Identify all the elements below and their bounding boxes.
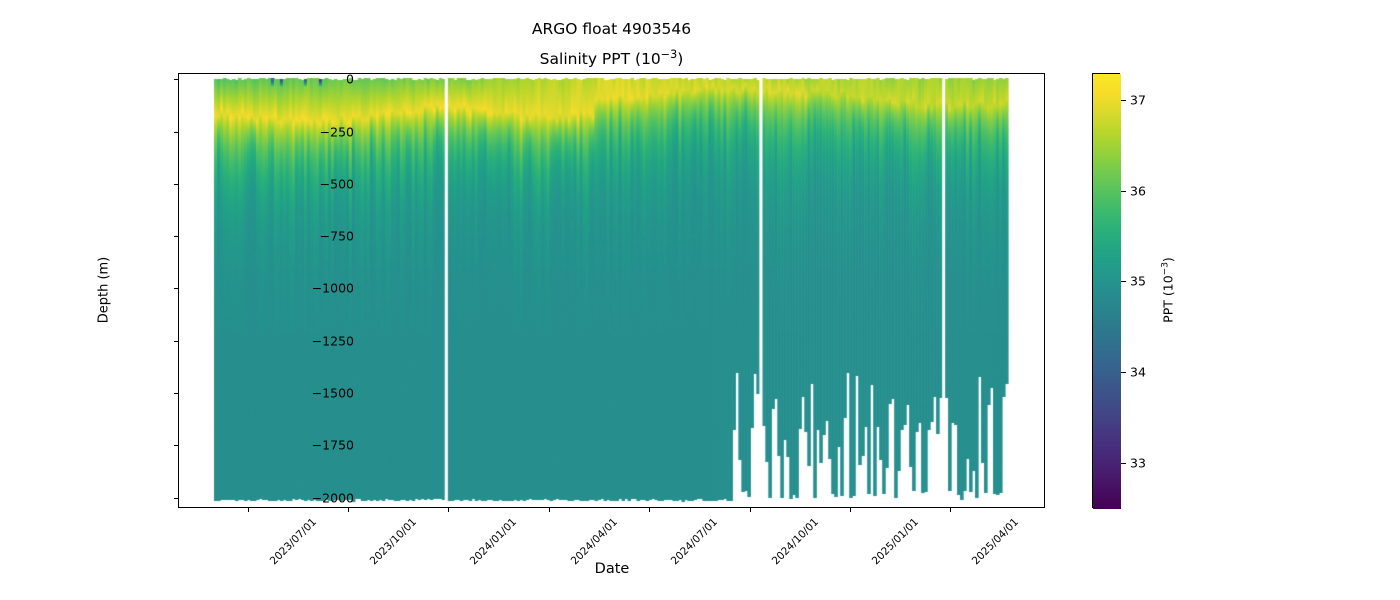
- figure-title: ARGO float 4903546 Salinity PPT (10−3): [178, 16, 1045, 72]
- colorbar-tick-label: 36: [1130, 183, 1146, 198]
- y-tick-label: −500: [320, 176, 354, 191]
- y-tick-mark: [174, 445, 178, 446]
- x-tick-label: 2024/04/01: [569, 516, 620, 567]
- colorbar-tick-mark: [1121, 372, 1126, 373]
- title-line-2-prefix: Salinity PPT (10: [540, 50, 661, 68]
- heatmap-clip: [179, 74, 1044, 507]
- y-tick-label: −1250: [312, 333, 354, 348]
- x-tick-label: 2024/10/01: [769, 516, 820, 567]
- x-tick-label: 2023/10/01: [368, 516, 419, 567]
- y-tick-mark: [174, 498, 178, 499]
- y-tick-label: −1000: [312, 281, 354, 296]
- y-axis-label: Depth (m): [97, 230, 112, 350]
- x-tick-mark: [649, 508, 650, 512]
- x-tick-label: 2025/01/01: [870, 516, 921, 567]
- x-tick-label: 2025/04/01: [970, 516, 1021, 567]
- x-tick-mark: [850, 508, 851, 512]
- colorbar[interactable]: [1092, 73, 1120, 508]
- figure-canvas: ARGO float 4903546 Salinity PPT (10−3) 0…: [0, 0, 1400, 600]
- colorbar-label-suffix: ): [1161, 257, 1176, 262]
- y-tick-mark: [174, 79, 178, 80]
- y-tick-mark: [174, 132, 178, 133]
- title-line-2: Salinity PPT (10−3): [178, 42, 1045, 72]
- colorbar-tick-mark: [1121, 281, 1126, 282]
- colorbar-gradient: [1093, 74, 1121, 509]
- x-tick-label: 2024/07/01: [669, 516, 720, 567]
- colorbar-tick-label: 33: [1130, 455, 1146, 470]
- heatmap-plot-area[interactable]: [178, 73, 1045, 508]
- x-tick-mark: [448, 508, 449, 512]
- y-tick-mark: [174, 393, 178, 394]
- y-tick-label: −1750: [312, 438, 354, 453]
- y-tick-label: −2000: [312, 490, 354, 505]
- colorbar-tick-mark: [1121, 463, 1126, 464]
- y-tick-mark: [174, 184, 178, 185]
- colorbar-tick-label: 34: [1130, 365, 1146, 380]
- x-tick-mark: [348, 508, 349, 512]
- title-line-2-suffix: ): [677, 50, 683, 68]
- colorbar-tick-label: 37: [1130, 93, 1146, 108]
- y-axis-label-wrap: Depth (m): [108, 0, 109, 1]
- y-tick-mark: [174, 288, 178, 289]
- y-tick-mark: [174, 236, 178, 237]
- salinity-heatmap-canvas: [179, 74, 1044, 507]
- x-tick-label: 2024/01/01: [467, 516, 518, 567]
- x-axis-label: Date: [595, 561, 630, 577]
- y-tick-mark: [174, 341, 178, 342]
- colorbar-label-exponent: −3: [1160, 262, 1170, 275]
- colorbar-tick-mark: [1121, 191, 1126, 192]
- colorbar-label-prefix: PPT (10: [1161, 275, 1176, 322]
- y-tick-label: 0: [346, 72, 354, 87]
- y-tick-label: −750: [320, 229, 354, 244]
- x-tick-label: 2023/07/01: [267, 516, 318, 567]
- x-tick-mark: [950, 508, 951, 512]
- colorbar-tick-label: 35: [1130, 274, 1146, 289]
- x-tick-mark: [750, 508, 751, 512]
- x-tick-mark: [248, 508, 249, 512]
- title-line-2-exponent: −3: [661, 48, 677, 61]
- colorbar-label: PPT (10−3): [1160, 257, 1175, 323]
- x-tick-mark: [549, 508, 550, 512]
- colorbar-tick-mark: [1121, 100, 1126, 101]
- y-tick-label: −250: [320, 124, 354, 139]
- y-tick-label: −1500: [312, 385, 354, 400]
- title-line-1: ARGO float 4903546: [532, 20, 691, 38]
